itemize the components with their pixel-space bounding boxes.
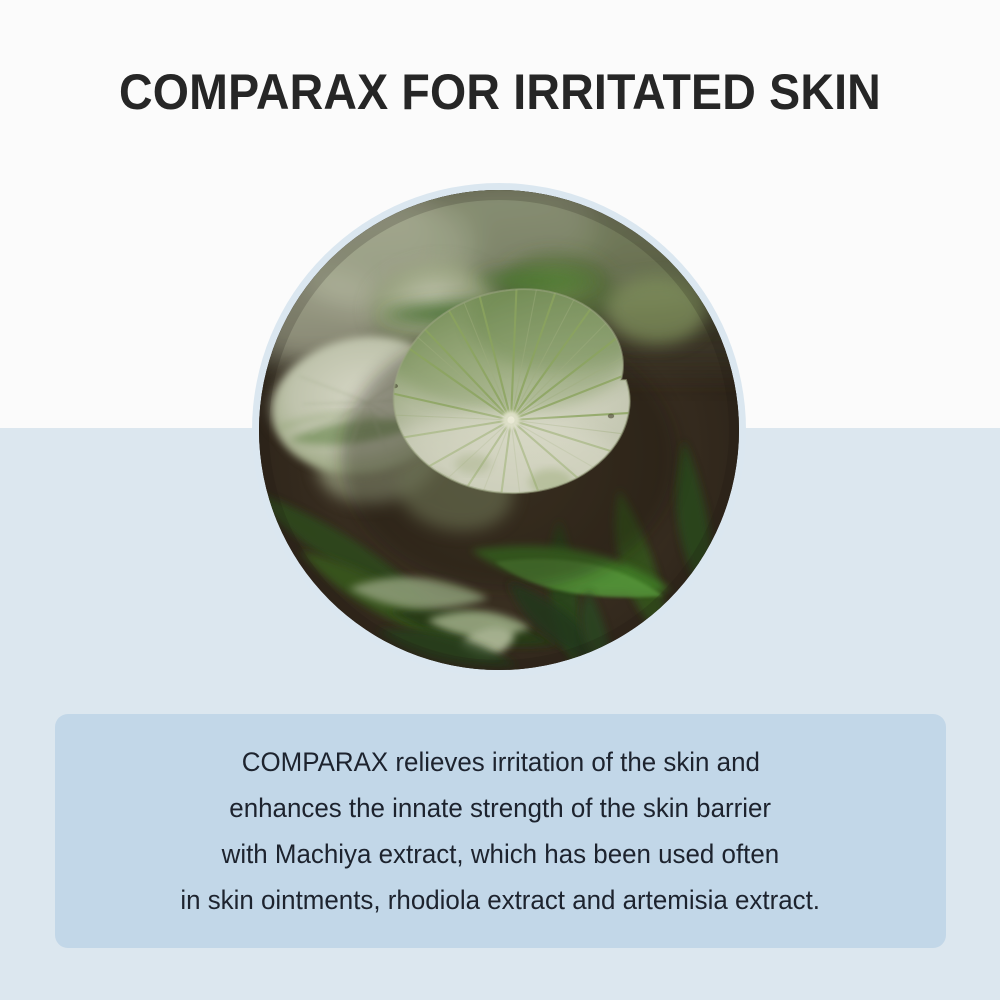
product-info-graphic: COMPARAX FOR IRRITATED SKIN [0,0,1000,1000]
centella-asiatica-leaves-photo [259,190,739,670]
hero-image-circle [259,190,739,670]
description-line-2: enhances the innate strength of the skin… [230,785,772,831]
description-line-1: COMPARAX relieves irritation of the skin… [241,739,759,785]
description-line-4: in skin ointments, rhodiola extract and … [181,877,821,923]
description-card: COMPARAX relieves irritation of the skin… [55,714,946,948]
page-title: COMPARAX FOR IRRITATED SKIN [35,64,965,120]
description-line-3: with Machiya extract, which has been use… [222,831,780,877]
